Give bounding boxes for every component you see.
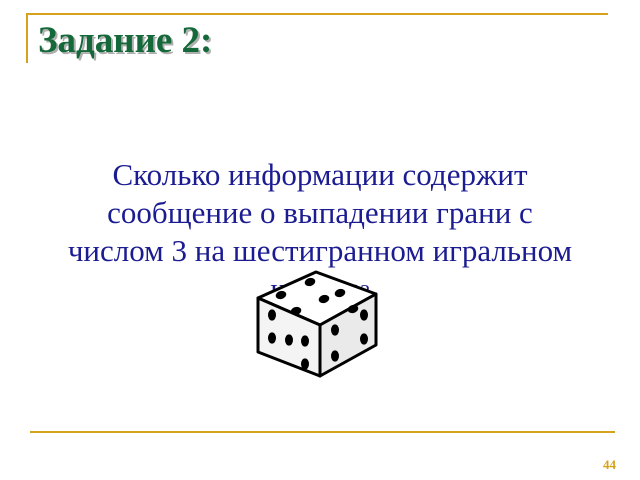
page-number: 44 (0, 457, 616, 473)
bottom-rule-divider (30, 431, 615, 433)
top-rule-divider (26, 13, 608, 15)
page-title: Задание 2: (38, 22, 212, 61)
left-rule-divider (26, 13, 28, 63)
slide-canvas: Задание 2: Сколько информации содержит с… (0, 0, 640, 480)
playing-die-image (248, 268, 392, 380)
